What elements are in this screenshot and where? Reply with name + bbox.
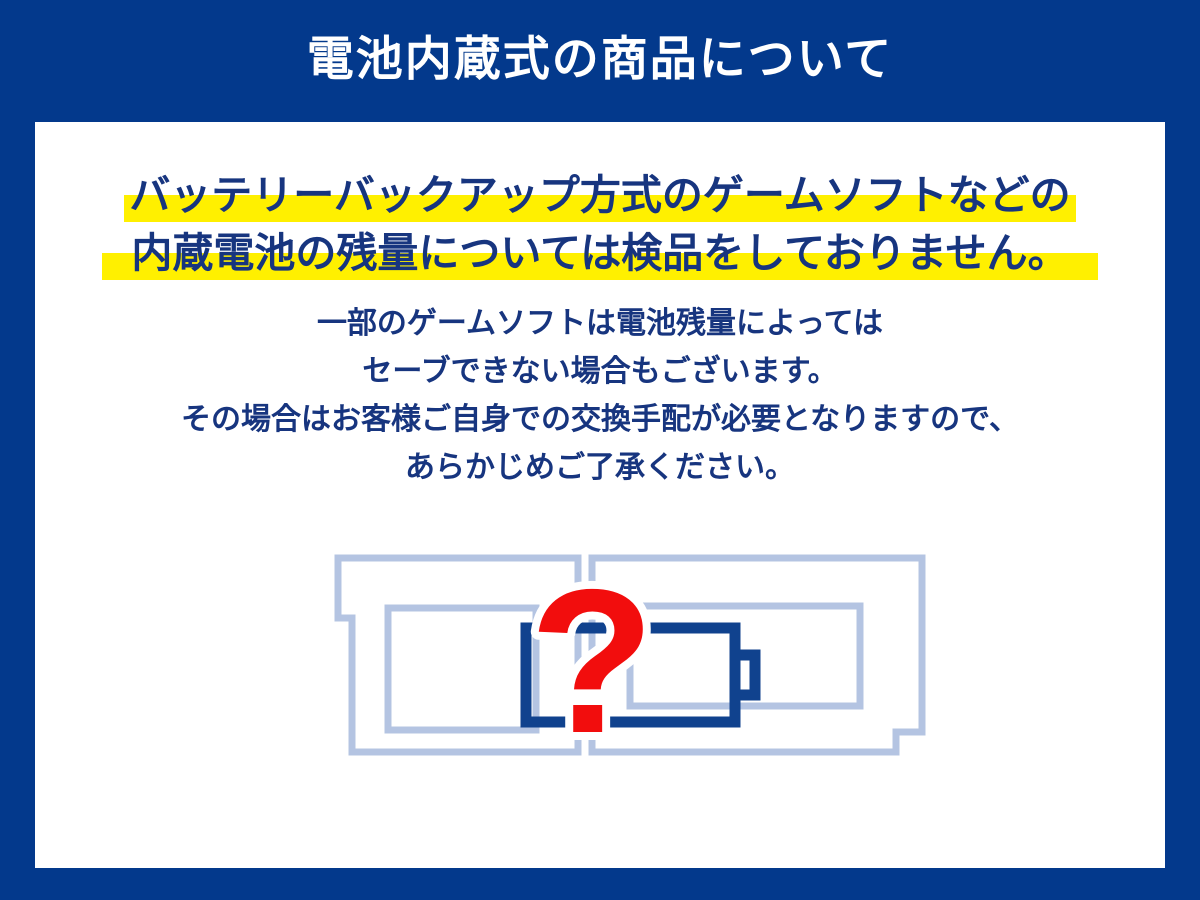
battery-terminal — [735, 655, 755, 695]
highlight-line-1: バッテリーバックアップ方式のゲームソフトなどの — [35, 166, 1165, 224]
body-line-1: 一部のゲームソフトは電池残量によっては — [35, 300, 1165, 348]
title-bar: 電池内蔵式の商品について — [0, 0, 1200, 122]
highlight-line-2: 内蔵電池の残量については検品をしておりません。 — [35, 224, 1165, 282]
illustration-svg: ? ? — [300, 540, 960, 780]
cartridge-left-label-window — [388, 608, 536, 730]
illustration-group: ? ? — [300, 540, 960, 780]
content-card: バッテリーバックアップ方式のゲームソフトなどの 内蔵電池の残量については検品をし… — [35, 122, 1165, 868]
body-line-3: その場合はお客様ご自身での交換手配が必要となりますので、 — [35, 396, 1165, 444]
body-line-2: セーブできない場合もございます。 — [35, 348, 1165, 396]
slide-root: 電池内蔵式の商品について バッテリーバックアップ方式のゲームソフトなどの 内蔵電… — [0, 0, 1200, 900]
body-line-4: あらかじめご了承ください。 — [35, 444, 1165, 492]
highlight-line-1-text: バッテリーバックアップ方式のゲームソフトなどの — [129, 175, 1070, 216]
highlight-heading: バッテリーバックアップ方式のゲームソフトなどの 内蔵電池の残量については検品をし… — [35, 166, 1165, 282]
highlight-line-2-text: 内蔵電池の残量については検品をしておりません。 — [131, 233, 1068, 274]
question-mark-glyph: ? — [529, 547, 654, 776]
body-paragraph: 一部のゲームソフトは電池残量によっては セーブできない場合もございます。 その場… — [35, 300, 1165, 492]
page-title: 電池内蔵式の商品について — [307, 35, 894, 82]
question-mark-icon: ? ? — [529, 547, 654, 776]
